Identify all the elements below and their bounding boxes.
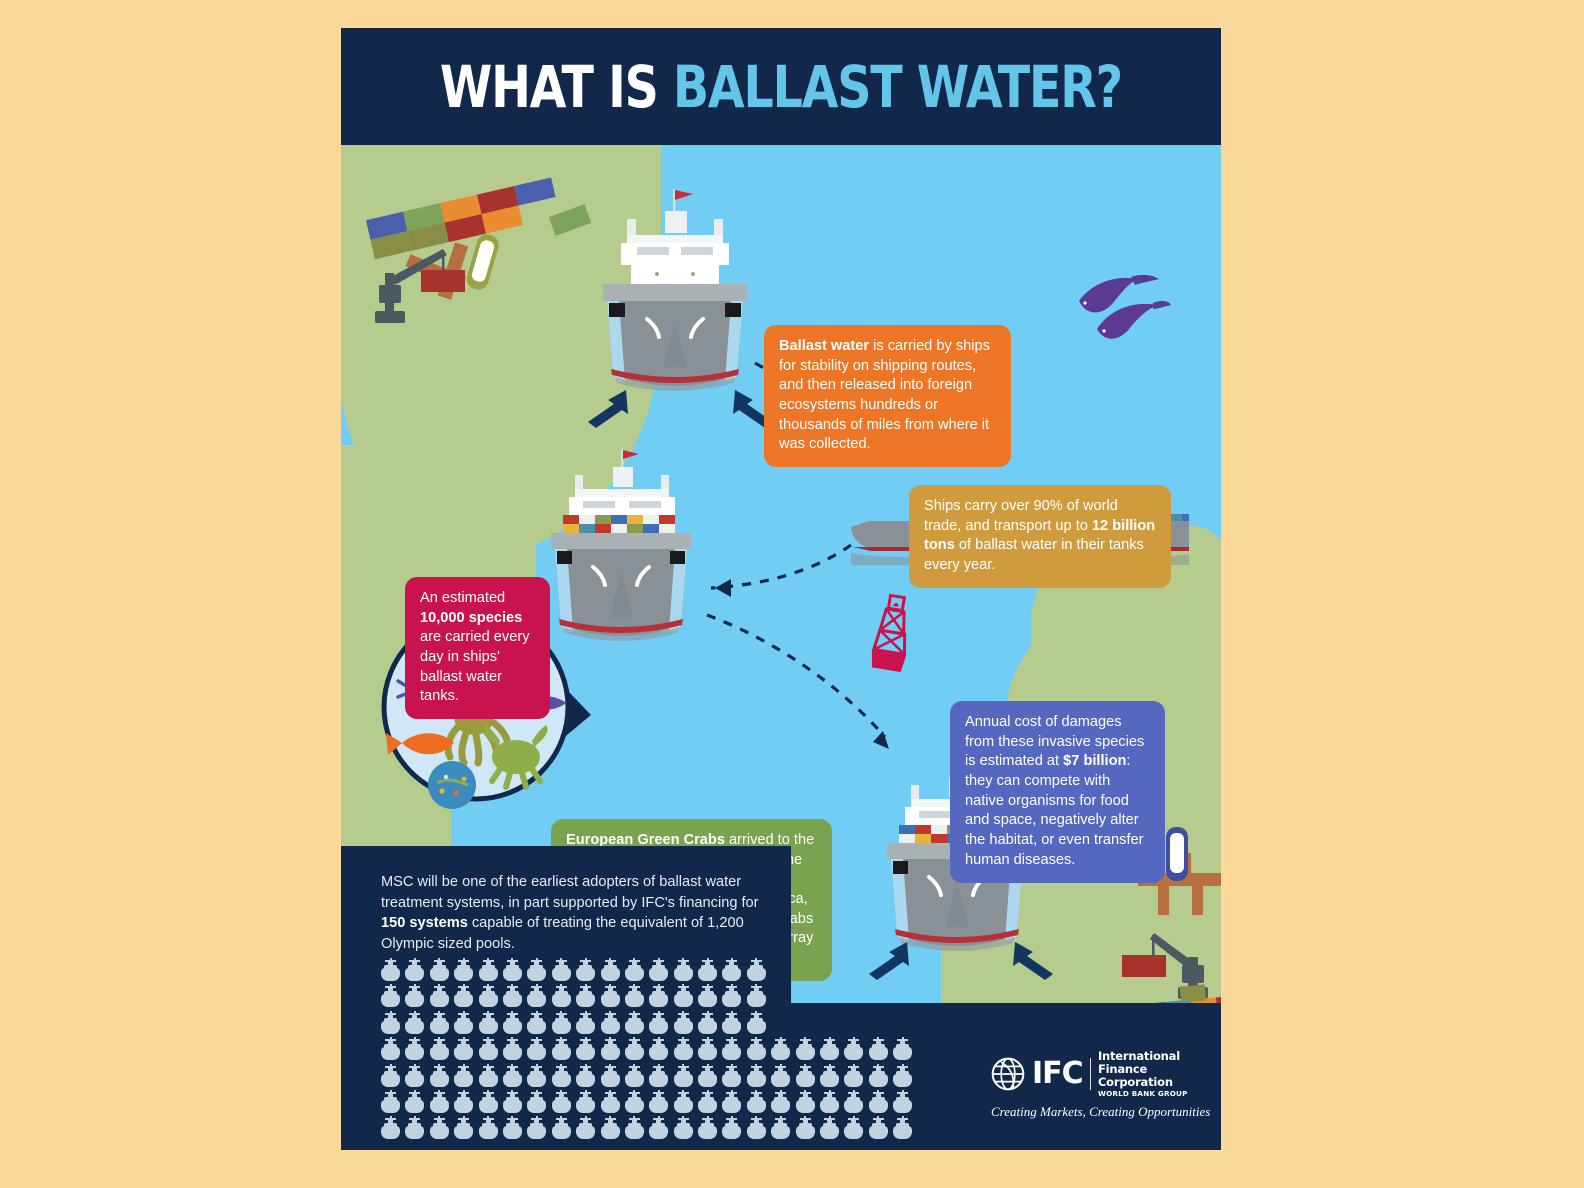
- ship-unit-icon: [721, 1090, 742, 1113]
- ship-icon-row: [380, 1011, 910, 1034]
- ship-unit-icon: [404, 958, 425, 981]
- ship-unit-icon: [770, 1116, 791, 1139]
- callout-purple-text: Annual cost of damages from these invasi…: [965, 714, 1144, 868]
- ship-unit-icon: [673, 1064, 694, 1087]
- ship-unit-icon: [673, 1011, 694, 1034]
- ship-unit-icon: [429, 984, 450, 1007]
- ship-unit-icon: [478, 1037, 499, 1060]
- ship-unit-icon: [429, 1116, 450, 1139]
- ship-unit-icon: [600, 1011, 621, 1034]
- ship-unit-icon: [648, 1037, 669, 1060]
- ship-unit-icon: [624, 1090, 645, 1113]
- ship-unit-icon: [551, 1037, 572, 1060]
- ship-unit-icon: [478, 984, 499, 1007]
- ship-unit-icon: [404, 1011, 425, 1034]
- ship-unit-icon: [746, 1064, 767, 1087]
- ship-unit-icon: [478, 1064, 499, 1087]
- page-title: WHAT IS BALLAST WATER?: [440, 58, 1122, 116]
- ship-unit-icon: [697, 1064, 718, 1087]
- ship-unit-icon: [526, 1064, 547, 1087]
- ship-unit-icon: [697, 1116, 718, 1139]
- ship-unit-icon: [380, 1037, 401, 1060]
- ifc-name-line2: Finance Corporation: [1098, 1063, 1206, 1089]
- infographic-canvas: WHAT IS BALLAST WATER?: [0, 0, 1584, 1188]
- title-part-blue: BALLAST WATER?: [673, 53, 1122, 121]
- ship-unit-icon: [868, 1037, 889, 1060]
- ship-unit-icon: [380, 958, 401, 981]
- ship-unit-icon: [575, 1116, 596, 1139]
- ship-unit-icon: [648, 1090, 669, 1113]
- ship-unit-icon: [721, 1116, 742, 1139]
- ship-unit-icon: [868, 1116, 889, 1139]
- callout-ballast-water-definition: Ballast water is carried by ships for st…: [764, 325, 1011, 467]
- ship-unit-icon: [429, 1090, 450, 1113]
- ship-unit-icon: [673, 1090, 694, 1113]
- ship-unit-icon: [795, 1064, 816, 1087]
- ship-unit-icon: [624, 1011, 645, 1034]
- ship-unit-icon: [551, 958, 572, 981]
- ship-unit-icon: [892, 1090, 913, 1113]
- ship-unit-icon: [551, 1116, 572, 1139]
- ship-icon-grid: [380, 958, 910, 1143]
- ship-unit-icon: [380, 1090, 401, 1113]
- callout-annual-cost-of-damages: Annual cost of damages from these invasi…: [950, 701, 1165, 883]
- ship-unit-icon: [746, 1037, 767, 1060]
- ship-unit-icon: [624, 984, 645, 1007]
- ship-unit-icon: [746, 1090, 767, 1113]
- ship-unit-icon: [795, 1090, 816, 1113]
- ship-unit-icon: [624, 1116, 645, 1139]
- ship-icon-row: [380, 1037, 910, 1060]
- ship-unit-icon: [551, 984, 572, 1007]
- ship-icon-row: [380, 1064, 910, 1087]
- ship-unit-icon: [843, 1037, 864, 1060]
- ship-unit-icon: [575, 1011, 596, 1034]
- title-part-white: WHAT IS: [440, 53, 673, 121]
- ship-unit-icon: [551, 1090, 572, 1113]
- ship-unit-icon: [502, 1116, 523, 1139]
- ship-unit-icon: [648, 1011, 669, 1034]
- ship-unit-icon: [746, 1116, 767, 1139]
- ship-unit-icon: [404, 1064, 425, 1087]
- ship-unit-icon: [526, 1037, 547, 1060]
- ship-unit-icon: [843, 1064, 864, 1087]
- ship-unit-icon: [429, 1011, 450, 1034]
- ship-unit-icon: [892, 1037, 913, 1060]
- ship-unit-icon: [819, 1064, 840, 1087]
- ship-unit-icon: [648, 984, 669, 1007]
- ship-unit-icon: [746, 984, 767, 1007]
- ship-unit-icon: [600, 984, 621, 1007]
- callout-orange-text: Ballast water is carried by ships for st…: [779, 338, 990, 452]
- ship-unit-icon: [648, 1064, 669, 1087]
- ship-unit-icon: [404, 1090, 425, 1113]
- ifc-name-line1: International: [1098, 1050, 1206, 1063]
- ship-unit-icon: [868, 1090, 889, 1113]
- ifc-group-line: WORLD BANK GROUP: [1098, 1090, 1206, 1098]
- ship-unit-icon: [892, 1064, 913, 1087]
- ship-unit-icon: [648, 958, 669, 981]
- ship-unit-icon: [575, 1090, 596, 1113]
- ship-icon-row: [380, 984, 910, 1007]
- ship-unit-icon: [892, 1116, 913, 1139]
- ship-unit-icon: [868, 1064, 889, 1087]
- ship-unit-icon: [721, 984, 742, 1007]
- ship-unit-icon: [575, 1064, 596, 1087]
- ship-unit-icon: [795, 1116, 816, 1139]
- callout-crimson-text: An estimated 10,000 species are carried …: [420, 590, 530, 704]
- ship-unit-icon: [697, 984, 718, 1007]
- ship-unit-icon: [770, 1037, 791, 1060]
- ship-unit-icon: [404, 984, 425, 1007]
- ship-unit-icon: [502, 1011, 523, 1034]
- ship-unit-icon: [770, 1064, 791, 1087]
- globe-icon: [991, 1057, 1025, 1091]
- ship-unit-icon: [600, 958, 621, 981]
- ship-unit-icon: [819, 1116, 840, 1139]
- ship-unit-icon: [526, 1011, 547, 1034]
- ship-unit-icon: [502, 1037, 523, 1060]
- ship-unit-icon: [575, 958, 596, 981]
- ship-unit-icon: [600, 1064, 621, 1087]
- ship-unit-icon: [453, 1011, 474, 1034]
- ship-unit-icon: [697, 958, 718, 981]
- ship-unit-icon: [380, 1064, 401, 1087]
- ship-unit-icon: [843, 1090, 864, 1113]
- ship-unit-icon: [526, 1116, 547, 1139]
- ship-unit-icon: [502, 1064, 523, 1087]
- poster-header: WHAT IS BALLAST WATER?: [341, 28, 1221, 145]
- ship-unit-icon: [526, 1090, 547, 1113]
- ship-unit-icon: [453, 1090, 474, 1113]
- ship-unit-icon: [380, 1011, 401, 1034]
- ship-unit-icon: [404, 1116, 425, 1139]
- ship-unit-icon: [600, 1037, 621, 1060]
- ship-unit-icon: [478, 1011, 499, 1034]
- ship-unit-icon: [502, 984, 523, 1007]
- ship-unit-icon: [429, 1064, 450, 1087]
- ship-unit-icon: [404, 1037, 425, 1060]
- ship-unit-icon: [721, 1037, 742, 1060]
- ship-unit-icon: [453, 1064, 474, 1087]
- callout-species-carried: An estimated 10,000 species are carried …: [405, 577, 550, 719]
- ship-unit-icon: [673, 1116, 694, 1139]
- ship-unit-icon: [526, 984, 547, 1007]
- msc-statement: MSC will be one of the earliest adopters…: [381, 872, 761, 955]
- ship-unit-icon: [551, 1064, 572, 1087]
- ship-unit-icon: [453, 984, 474, 1007]
- ship-unit-icon: [551, 1011, 572, 1034]
- ship-unit-icon: [600, 1090, 621, 1113]
- ship-icon-row: [380, 958, 910, 981]
- ship-unit-icon: [819, 1090, 840, 1113]
- ship-unit-icon: [624, 1037, 645, 1060]
- ship-unit-icon: [697, 1011, 718, 1034]
- ship-unit-icon: [575, 1037, 596, 1060]
- ship-unit-icon: [721, 1064, 742, 1087]
- ship-unit-icon: [697, 1037, 718, 1060]
- ship-unit-icon: [600, 1116, 621, 1139]
- ship-unit-icon: [380, 984, 401, 1007]
- ship-unit-icon: [673, 958, 694, 981]
- ship-unit-icon: [721, 1011, 742, 1034]
- ship-unit-icon: [478, 1116, 499, 1139]
- callout-gold-text: Ships carry over 90% of world trade, and…: [924, 498, 1155, 573]
- ship-unit-icon: [721, 958, 742, 981]
- ship-unit-icon: [453, 1037, 474, 1060]
- ship-unit-icon: [795, 1037, 816, 1060]
- ship-unit-icon: [673, 984, 694, 1007]
- ship-unit-icon: [526, 958, 547, 981]
- ship-unit-icon: [648, 1116, 669, 1139]
- ship-unit-icon: [429, 958, 450, 981]
- ship-unit-icon: [429, 1037, 450, 1060]
- ship-unit-icon: [453, 958, 474, 981]
- ship-unit-icon: [453, 1116, 474, 1139]
- ship-icon-row: [380, 1090, 910, 1113]
- ship-unit-icon: [624, 958, 645, 981]
- ship-unit-icon: [843, 1116, 864, 1139]
- ship-unit-icon: [819, 1037, 840, 1060]
- ifc-wordmark: IFC: [1032, 1059, 1083, 1089]
- ship-unit-icon: [624, 1064, 645, 1087]
- ifc-logo: IFC International Finance Corporation WO…: [991, 1050, 1206, 1120]
- ship-unit-icon: [770, 1090, 791, 1113]
- poster: WHAT IS BALLAST WATER?: [341, 28, 1221, 1150]
- ship-unit-icon: [380, 1116, 401, 1139]
- logo-divider: [1090, 1058, 1091, 1090]
- ship-unit-icon: [478, 958, 499, 981]
- ship-unit-icon: [575, 984, 596, 1007]
- ship-unit-icon: [502, 958, 523, 981]
- ship-unit-icon: [502, 1090, 523, 1113]
- callout-world-trade-volume: Ships carry over 90% of world trade, and…: [909, 485, 1171, 588]
- ship-unit-icon: [697, 1090, 718, 1113]
- ship-unit-icon: [746, 958, 767, 981]
- ship-icon-row: [380, 1116, 910, 1139]
- ship-unit-icon: [478, 1090, 499, 1113]
- ship-unit-icon: [746, 1011, 767, 1034]
- ship-unit-icon: [673, 1037, 694, 1060]
- ifc-tagline: Creating Markets, Creating Opportunities: [991, 1104, 1206, 1120]
